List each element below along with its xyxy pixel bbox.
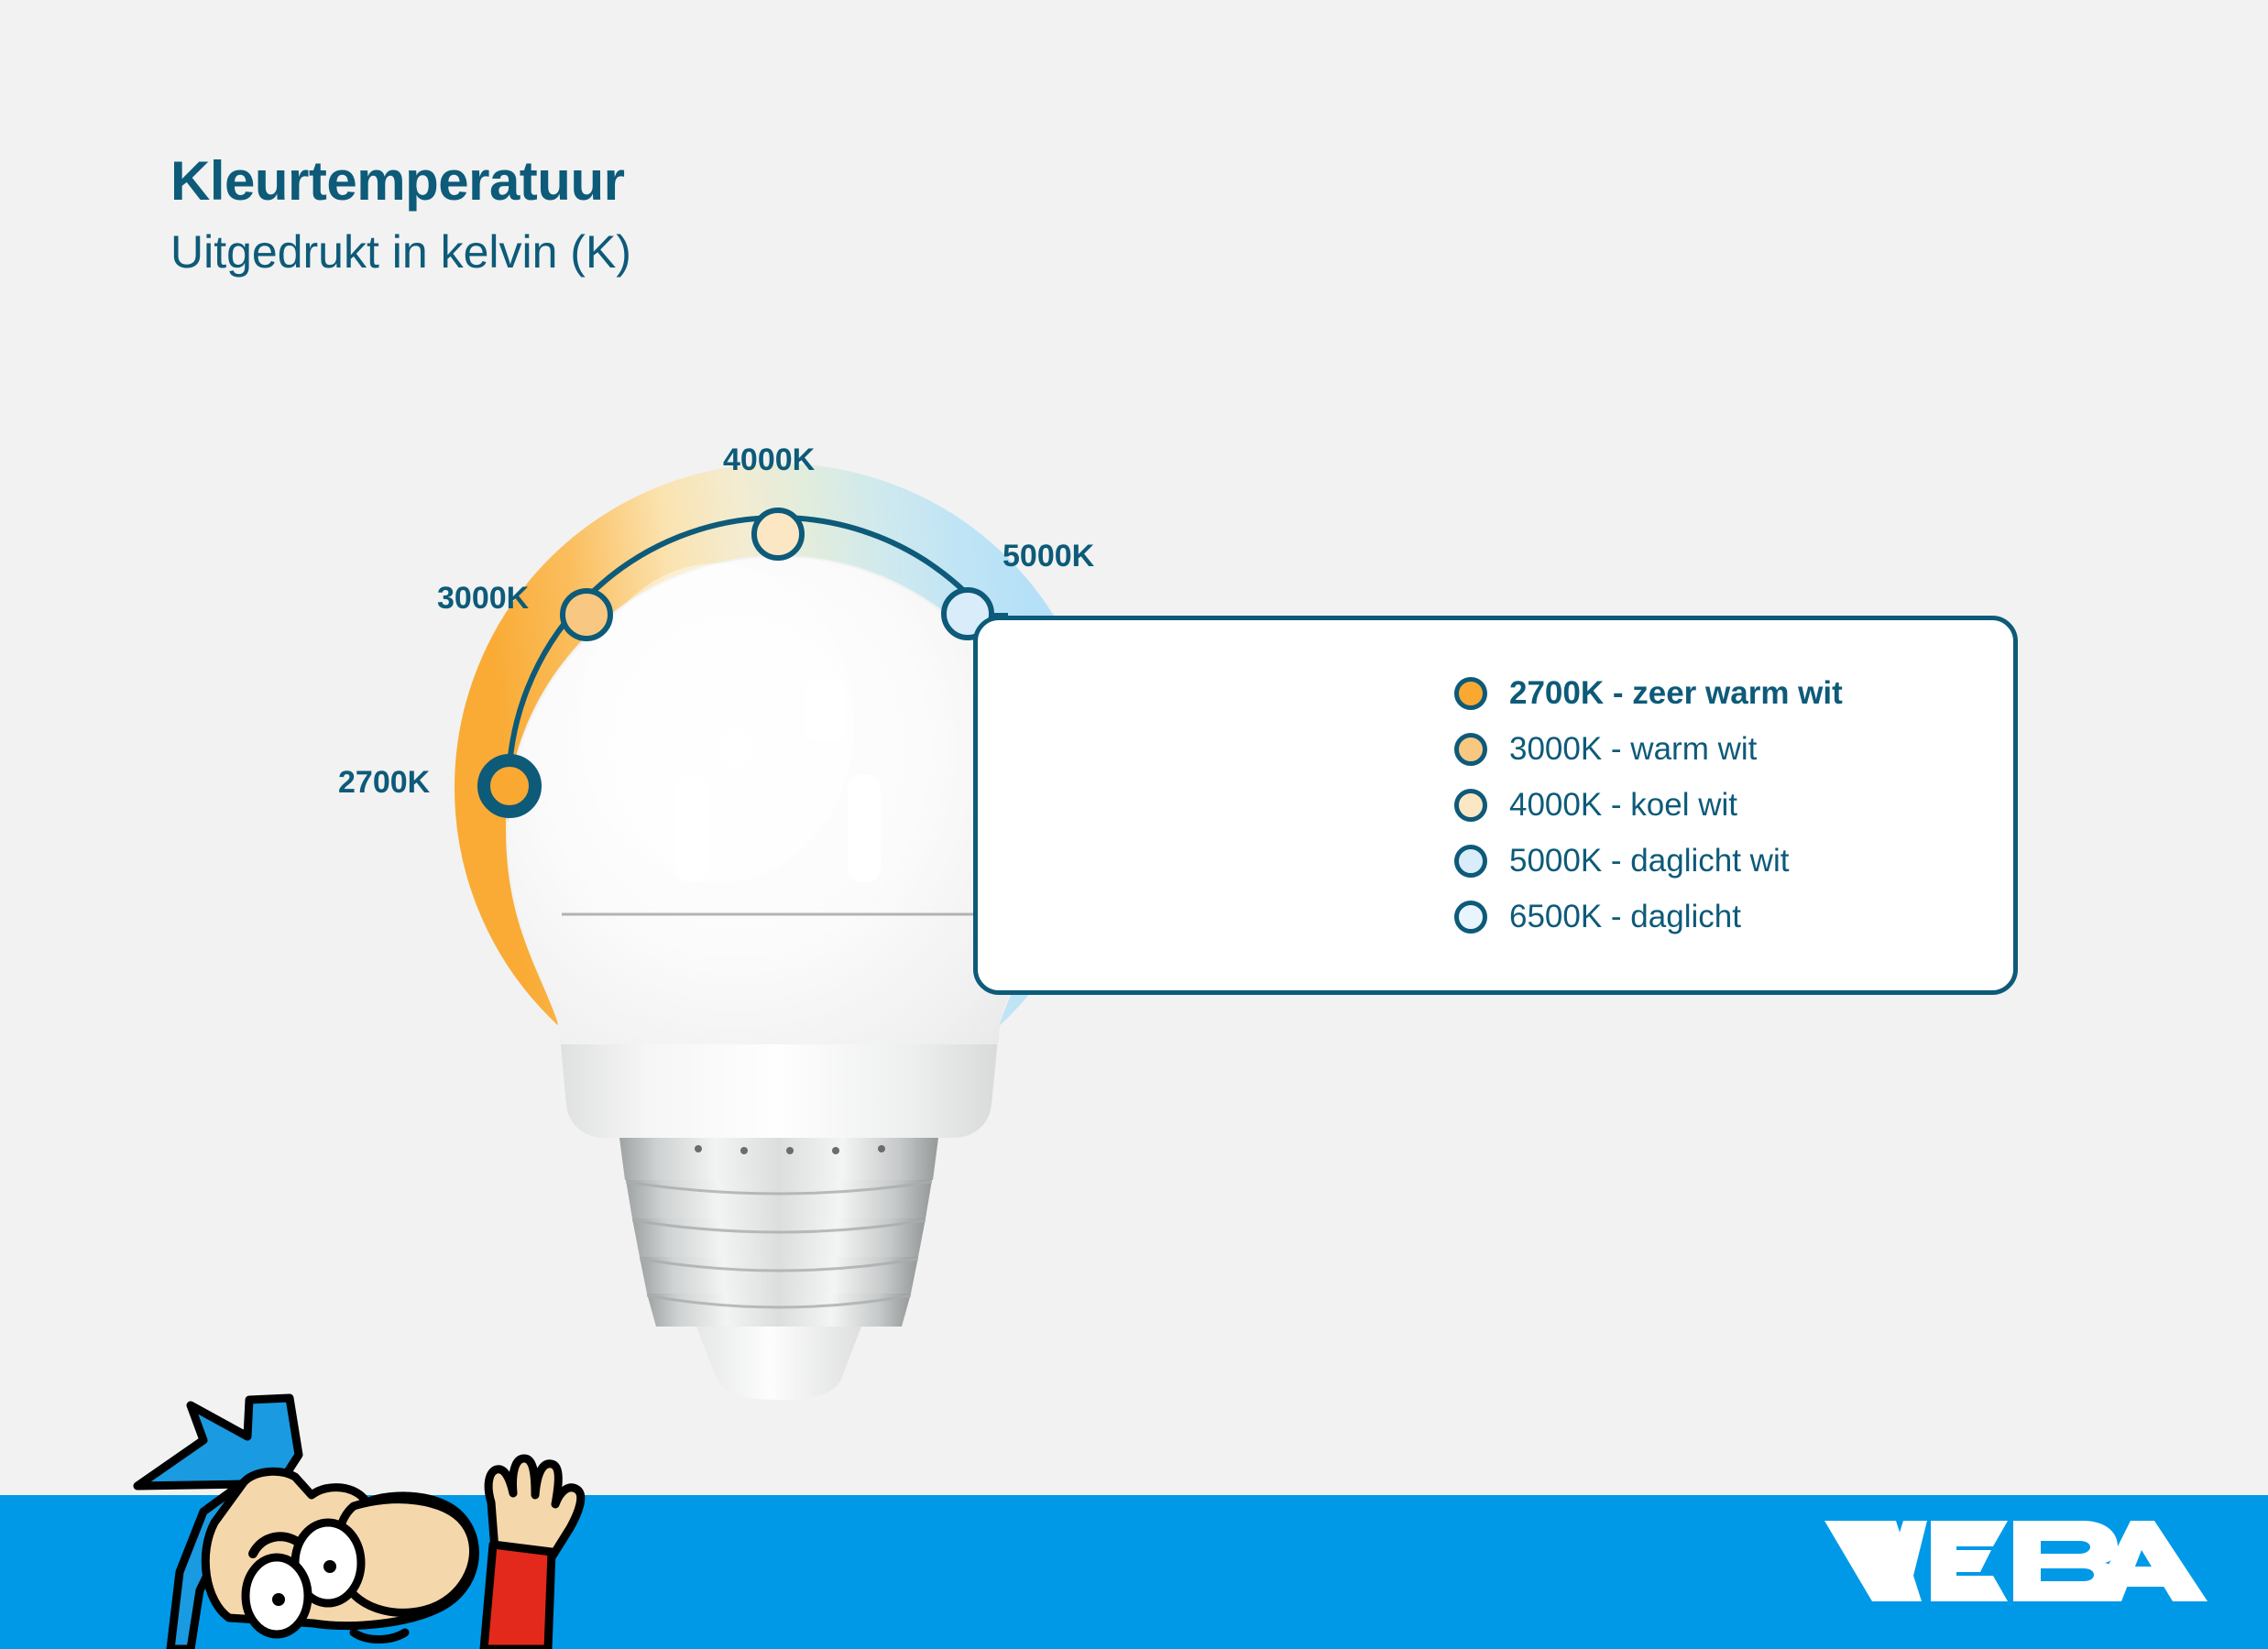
legend-item-5000k[interactable]: 5000K - daglicht wit (1454, 842, 2013, 880)
page-subtitle: Uitgedrukt in kelvin (K) (170, 229, 631, 275)
legend-swatch-4000k (1454, 789, 1487, 822)
ring-node-markers (484, 510, 1054, 812)
ring-outline (509, 518, 1049, 1058)
legend-swatch-2700k (1454, 677, 1487, 710)
legend-label-4000k: 4000K - koel wit (1509, 787, 1737, 824)
legend-label-2700k: 2700K - zeer warm wit (1509, 675, 1843, 712)
node-3000k[interactable] (563, 591, 610, 639)
legend-item-3000k[interactable]: 3000K - warm wit (1454, 730, 2013, 769)
mascot-pupil-left (272, 1593, 285, 1606)
temperature-gradient-ring (509, 518, 1049, 1058)
node-2700k-selected[interactable] (484, 760, 535, 812)
page-title: Kleurtemperatuur (170, 154, 631, 209)
legend-item-6500k[interactable]: 6500K - daglicht (1454, 898, 2013, 936)
legend-swatch-5000k (1454, 845, 1487, 878)
legend-panel: 2700K - zeer warm wit 3000K - warm wit 4… (973, 616, 2018, 995)
legend-item-4000k[interactable]: 4000K - koel wit (1454, 786, 2013, 824)
arc-label-4000k: 4000K (723, 442, 815, 478)
weba-logo (1819, 1506, 2213, 1616)
legend-label-5000k: 5000K - daglicht wit (1509, 843, 1789, 879)
legend-swatch-6500k (1454, 901, 1487, 934)
mascot-sleeve (484, 1545, 552, 1649)
node-4000k[interactable] (754, 510, 802, 558)
arc-label-2700k: 2700K (338, 765, 430, 801)
light-bulb-illustration (508, 557, 1050, 1400)
page-header: Kleurtemperatuur Uitgedrukt in kelvin (K… (170, 154, 631, 275)
legend-label-6500k: 6500K - daglicht (1509, 899, 1741, 935)
legend-label-3000k: 3000K - warm wit (1509, 731, 1757, 768)
arc-label-5000k: 5000K (1003, 539, 1094, 574)
arc-label-3000k: 3000K (437, 581, 529, 617)
mascot-pupil-right (323, 1560, 336, 1573)
legend-item-2700k[interactable]: 2700K - zeer warm wit (1454, 674, 2013, 713)
legend-swatch-3000k (1454, 733, 1487, 766)
mascot-character (82, 1383, 596, 1649)
